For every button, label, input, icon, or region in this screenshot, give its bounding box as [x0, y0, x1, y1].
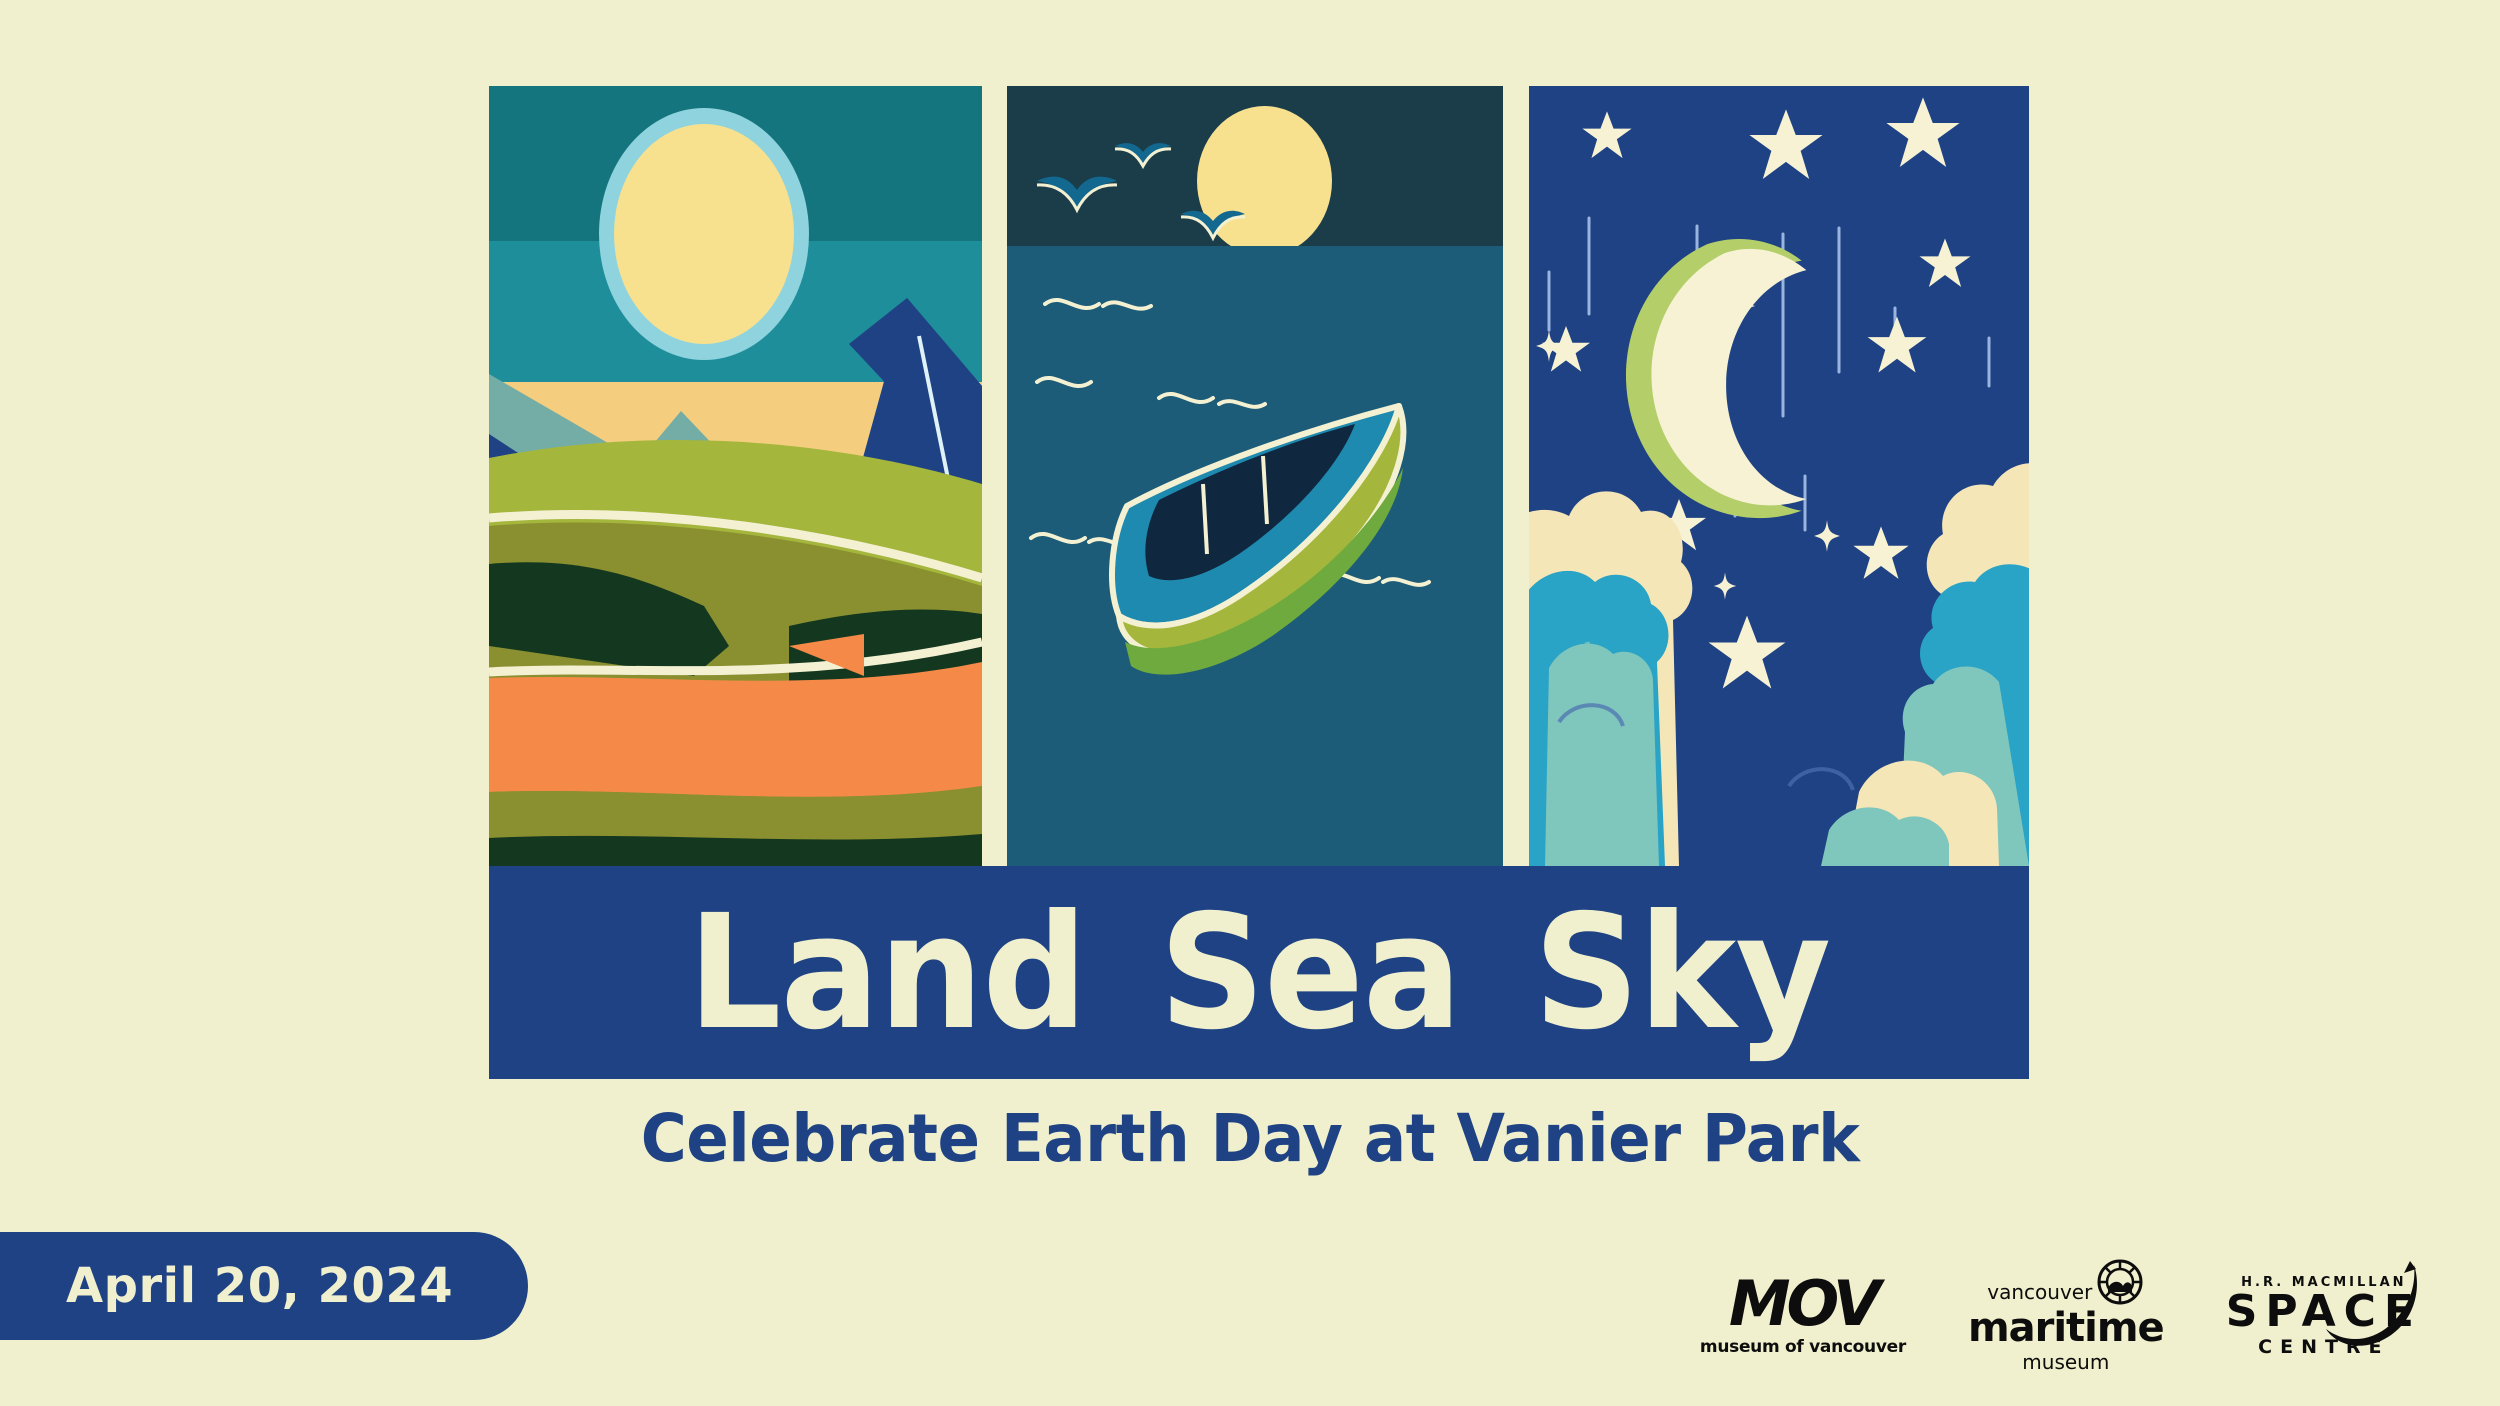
land-terrain-svg — [489, 86, 982, 866]
vmm-line-museum: museum — [2022, 1350, 2109, 1374]
star-icon — [1868, 317, 1927, 373]
logo-row: MOV museum of vancouver vancouver — [1700, 1258, 2422, 1374]
ships-wheel-icon — [2096, 1258, 2144, 1306]
title-word-land: Land — [688, 894, 1087, 1052]
title-word-sky: Sky — [1534, 894, 1831, 1052]
mov-wordmark: MOV — [1729, 1275, 1877, 1334]
title-word-sea: Sea — [1159, 894, 1461, 1052]
date-text: April 20, 2024 — [66, 1258, 453, 1314]
panel-sea — [1007, 86, 1503, 866]
poster-canvas: Land Sea Sky Celebrate Earth Day at Vani… — [0, 0, 2500, 1406]
canoe-illustration — [1112, 406, 1403, 675]
crescent-moon-icon — [1626, 239, 1806, 518]
star-icon — [1749, 109, 1822, 179]
logo-hr-macmillan-space-centre: H.R. MACMILLAN SPACE CENTRE — [2226, 1275, 2422, 1358]
title-banner: Land Sea Sky — [489, 866, 2029, 1079]
seagull-icon-3 — [1181, 211, 1245, 238]
subtitle: Celebrate Earth Day at Vanier Park — [63, 1100, 2438, 1177]
cloud-left — [1529, 491, 1692, 866]
star-icon — [1582, 111, 1631, 158]
logo-vancouver-maritime-museum: vancouver — [1968, 1258, 2164, 1374]
seagull-icon-1 — [1037, 177, 1117, 210]
mov-subtitle: museum of vancouver — [1700, 1337, 1906, 1357]
field-forest-bottom — [489, 834, 982, 866]
sea-detail-svg — [1007, 86, 1503, 866]
sky-detail-svg — [1529, 86, 2029, 866]
comet-swoosh-icon — [2318, 1259, 2428, 1355]
page-title: Land Sea Sky — [543, 866, 1975, 1079]
star-icon — [1920, 239, 1971, 287]
vmm-line-vancouver: vancouver — [1987, 1276, 2092, 1308]
logo-museum-of-vancouver: MOV museum of vancouver — [1700, 1275, 1906, 1357]
cloud-right — [1821, 463, 2029, 866]
panel-sky — [1529, 86, 2029, 866]
vmm-line-maritime: maritime — [1968, 1308, 2164, 1348]
sparkle-icon — [1714, 572, 1736, 599]
field-orange — [489, 662, 982, 797]
panel-land — [489, 86, 982, 866]
star-icon — [1709, 616, 1786, 689]
seagull-icon-2 — [1115, 143, 1171, 166]
illustration-panels — [489, 86, 2029, 866]
sparkle-icon — [1814, 520, 1840, 552]
star-icon — [1886, 97, 1959, 167]
star-icon — [1853, 526, 1908, 578]
date-badge: April 20, 2024 — [0, 1232, 528, 1340]
